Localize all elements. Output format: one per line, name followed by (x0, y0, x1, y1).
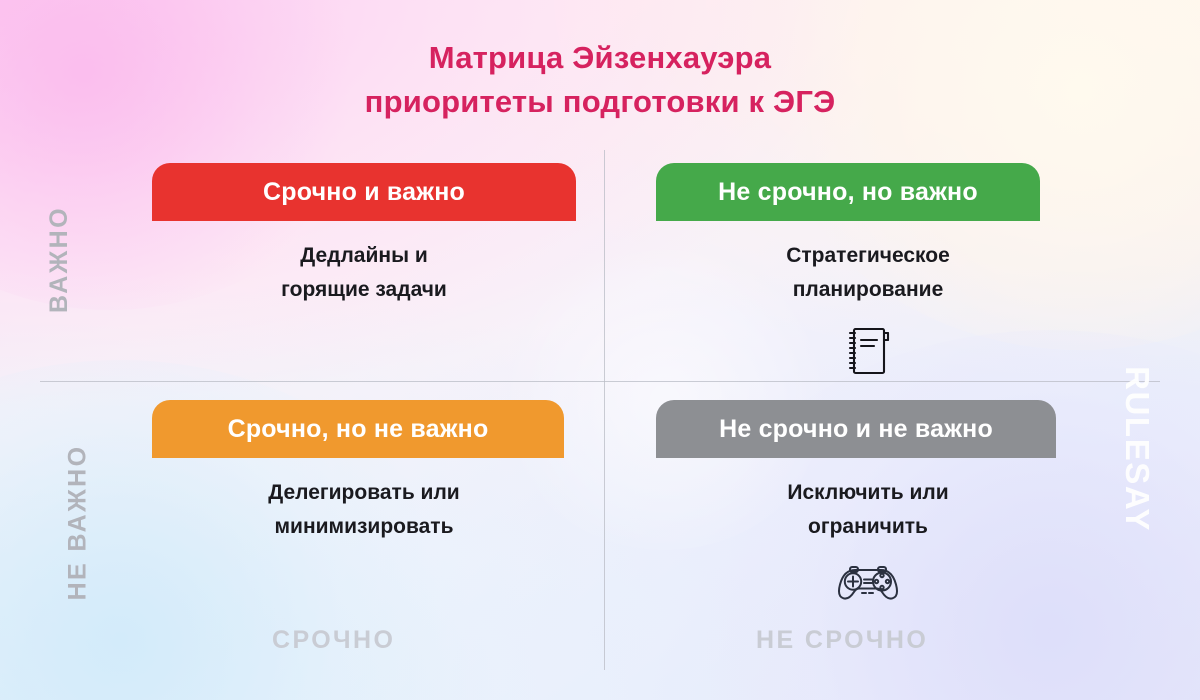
title-line-1: Матрица Эйзенхауэра (0, 36, 1200, 80)
axis-label-important: ВАЖНО (0, 245, 118, 274)
quadrant-body-line-1: Исключить или (648, 476, 1088, 510)
axis-label-not-urgent: НЕ СРОЧНО (756, 626, 928, 655)
quadrant-urgent-important: Срочно и важно Дедлайны и горящие задачи (124, 163, 604, 307)
title-line-2: приоритеты подготовки к ЭГЭ (0, 80, 1200, 124)
quadrant-body-line-2: минимизировать (144, 510, 584, 544)
axis-label-urgent: СРОЧНО (272, 626, 395, 655)
quadrant-body-line-2: горящие задачи (144, 273, 584, 307)
quadrant-banner-not-urgent-not-important[interactable]: Не срочно и не важно (656, 400, 1056, 458)
quadrant-body-urgent-important: Дедлайны и горящие задачи (144, 239, 584, 307)
axis-label-not-important-text: НЕ ВАЖНО (63, 445, 92, 601)
notebook-icon (648, 323, 1088, 379)
quadrant-body-line-2: ограничить (648, 510, 1088, 544)
quadrant-body-not-urgent-important: Стратегическое планирование (648, 239, 1088, 307)
quadrant-body-not-urgent-not-important: Исключить или ограничить (648, 476, 1088, 544)
axis-label-important-text: ВАЖНО (45, 206, 74, 313)
matrix-horizontal-divider (40, 381, 1160, 382)
quadrant-body-line-2: планирование (648, 273, 1088, 307)
quadrant-banner-urgent-not-important[interactable]: Срочно, но не важно (152, 400, 564, 458)
infographic-canvas: Матрица Эйзенхауэра приоритеты подготовк… (0, 0, 1200, 700)
quadrant-body-line-1: Дедлайны и (144, 239, 584, 273)
axis-label-not-important: НЕ ВАЖНО (0, 508, 118, 537)
page-title: Матрица Эйзенхауэра приоритеты подготовк… (0, 36, 1200, 124)
quadrant-urgent-not-important: Срочно, но не важно Делегировать или мин… (124, 400, 604, 544)
quadrant-body-line-1: Делегировать или (144, 476, 584, 510)
gamepad-icon (648, 560, 1088, 606)
quadrant-body-urgent-not-important: Делегировать или минимизировать (144, 476, 584, 544)
quadrant-banner-urgent-important[interactable]: Срочно и важно (152, 163, 576, 221)
watermark-text: RULESAY (1118, 366, 1156, 532)
watermark: RULESAY (1012, 430, 1200, 468)
quadrant-body-line-1: Стратегическое (648, 239, 1088, 273)
matrix-vertical-divider (604, 150, 605, 670)
quadrant-banner-not-urgent-important[interactable]: Не срочно, но важно (656, 163, 1040, 221)
quadrant-not-urgent-important: Не срочно, но важно Стратегическое плани… (628, 163, 1108, 379)
